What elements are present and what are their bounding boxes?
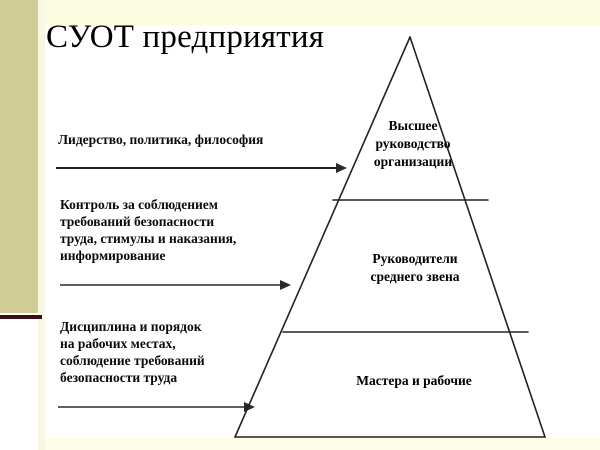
pyramid-tier-label-middle: Руководители среднего звена <box>320 250 510 286</box>
pyramid-tier-label-bottom: Мастера и рабочие <box>300 372 528 390</box>
slide-canvas: СУОТ предприятия Лидерство, политика, фи… <box>0 0 600 450</box>
pyramid-tier-label-top: Высшее руководство организации <box>339 117 487 171</box>
